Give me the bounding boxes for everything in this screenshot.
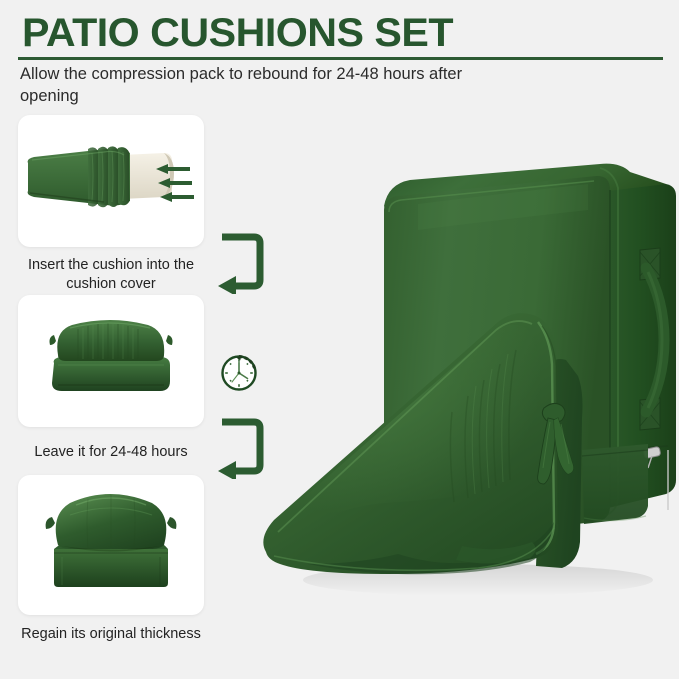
lofted-cushions-illustration — [18, 475, 204, 615]
step-card-3 — [18, 475, 204, 615]
seat-cushion-front — [582, 444, 648, 524]
step-caption-3: Regain its original thickness — [10, 625, 212, 644]
product-infographic: PATIO CUSHIONS SET Allow the compression… — [0, 0, 679, 679]
steps-column: Insert the cushion into the cushion cove… — [0, 0, 230, 679]
step-caption-2: Leave it for 24-48 hours — [10, 443, 212, 462]
step-card-2 — [18, 295, 204, 427]
cushion-insert-illustration — [18, 115, 204, 247]
product-photo — [248, 150, 679, 620]
compressed-cushions-illustration — [18, 295, 204, 427]
step-card-1 — [18, 115, 204, 247]
insert-arrows — [156, 164, 194, 202]
step-caption-1: Insert the cushion into the cushion cove… — [10, 256, 212, 294]
